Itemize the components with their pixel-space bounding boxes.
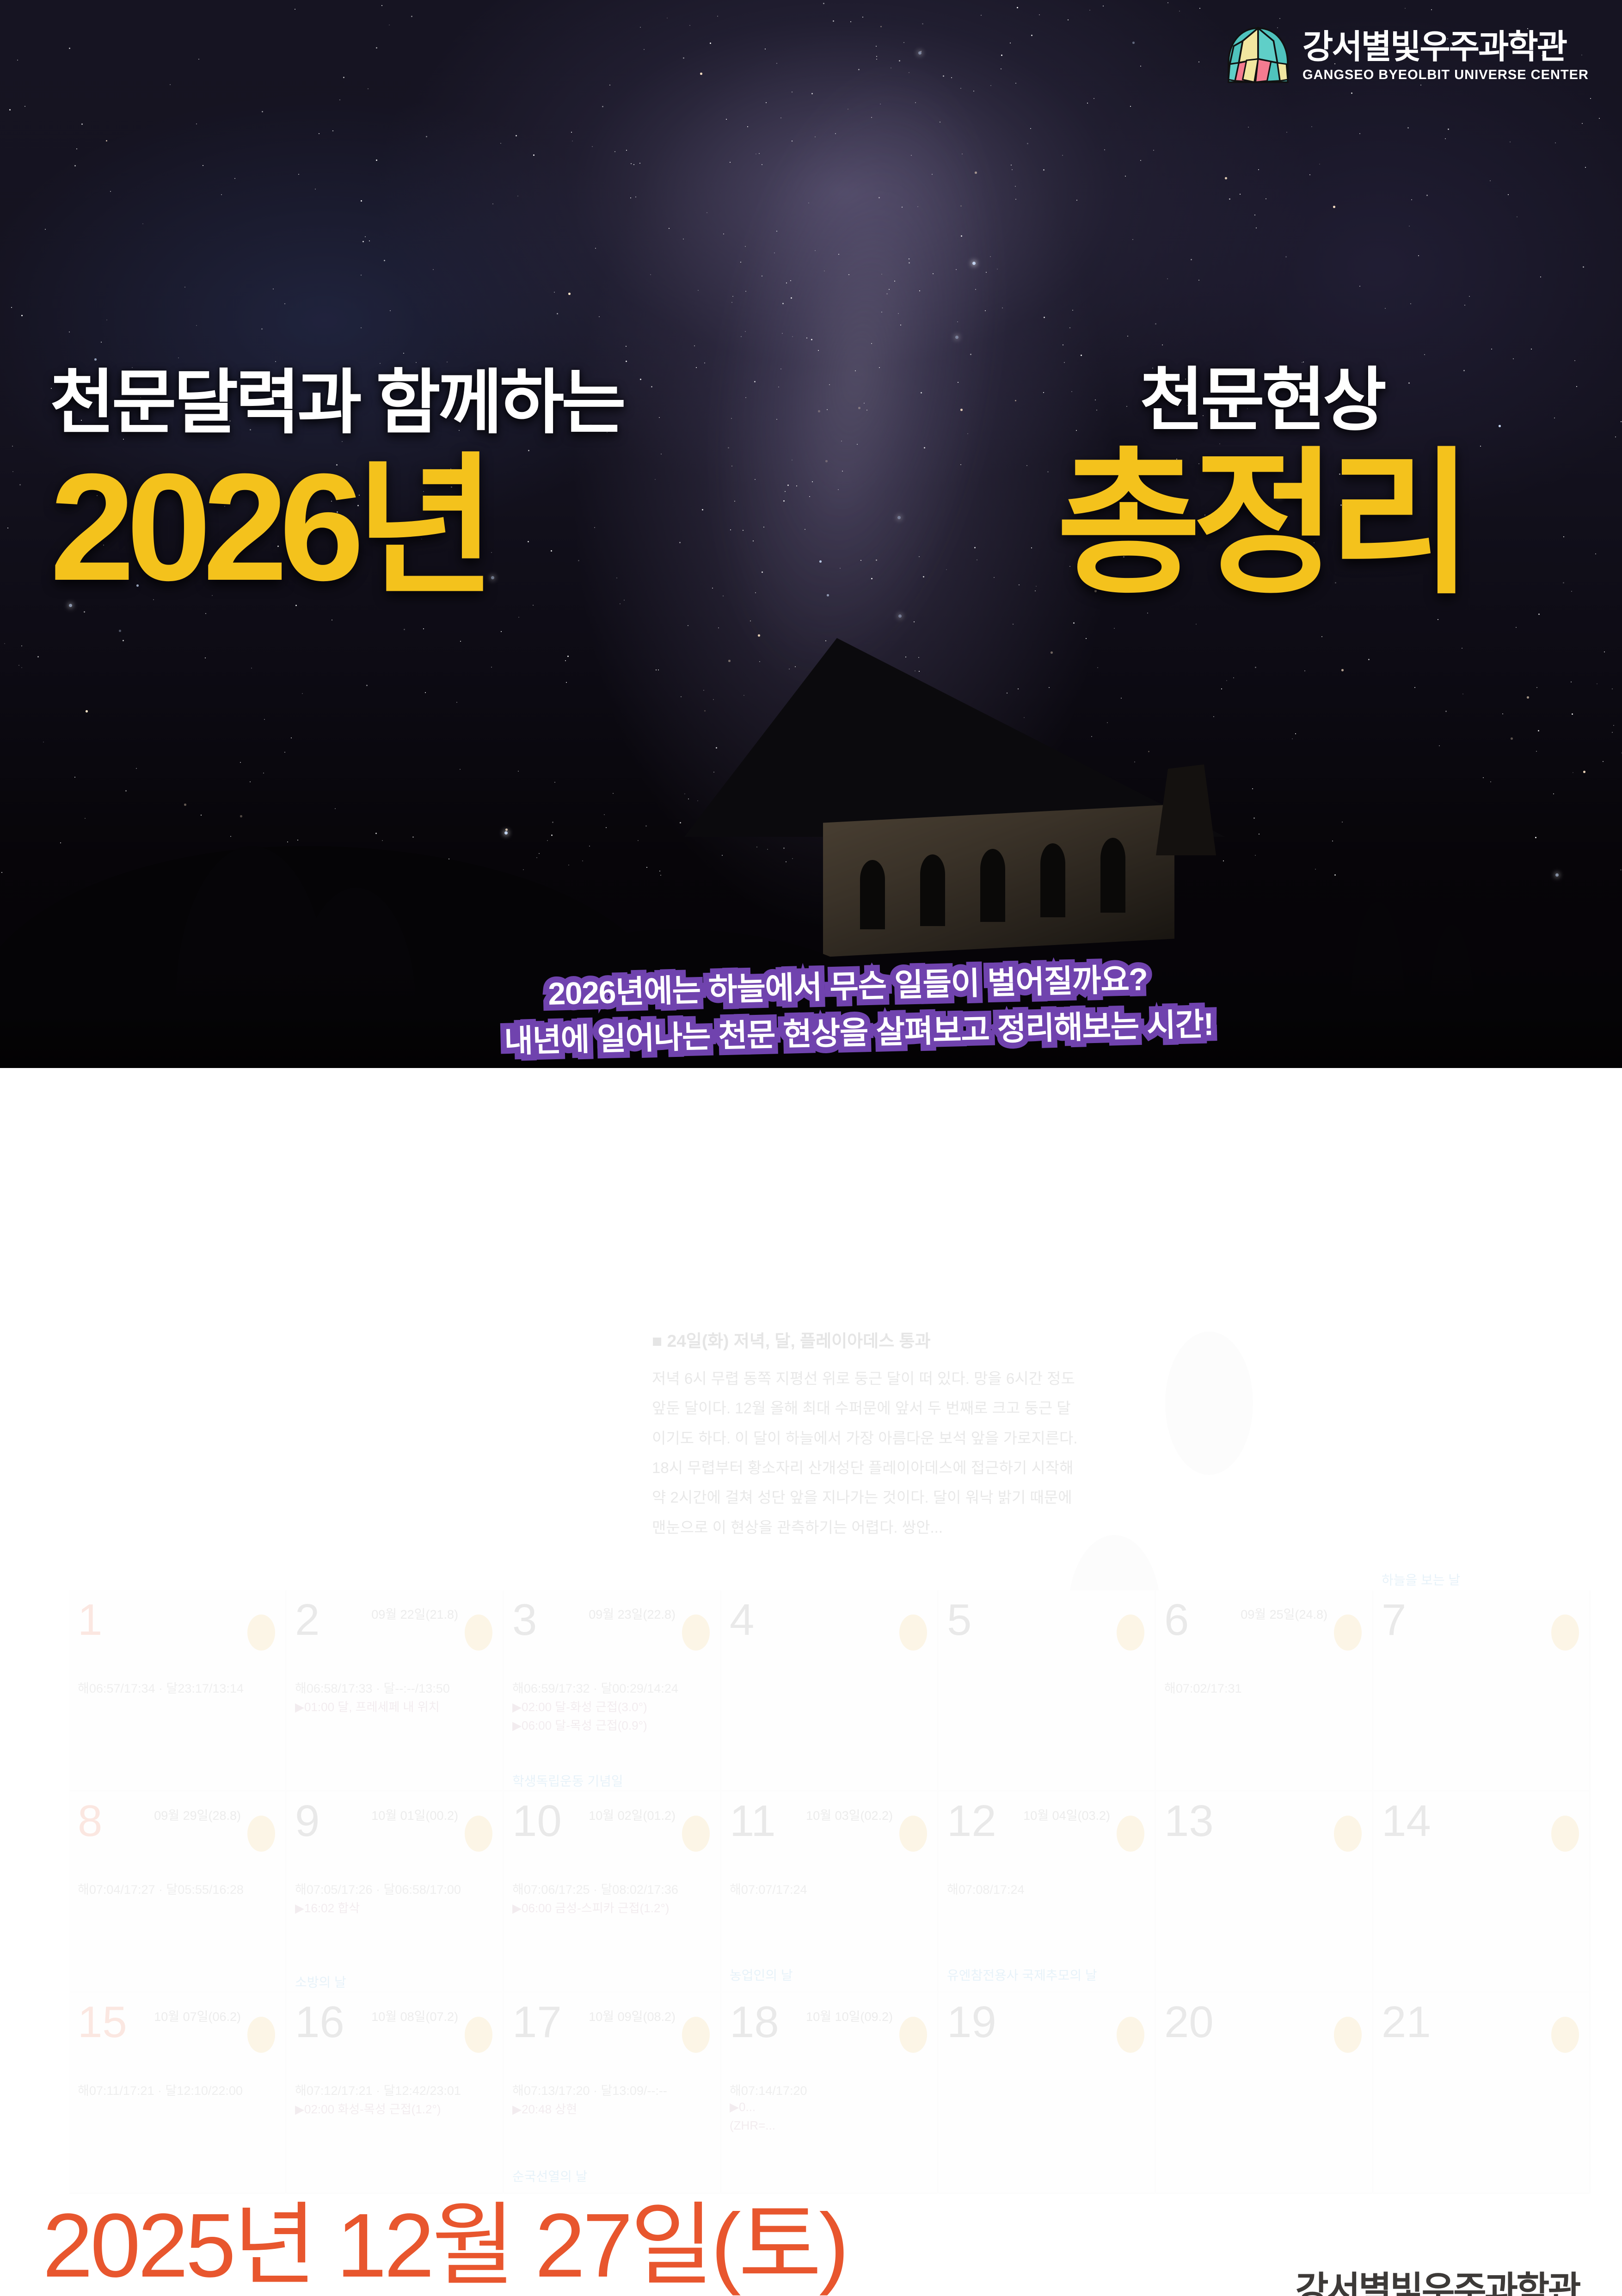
- watermark-lunar-date: 10월 01일(00.2): [371, 1805, 458, 1823]
- watermark-moon-phase-icon: [1551, 1816, 1579, 1852]
- watermark-calendar-cell: 소방의 날1610월 08일(07.2)해07:12/17:21 · 달12:4…: [287, 1993, 504, 2194]
- watermark-calendar-cell: 13: [1156, 1792, 1373, 1993]
- watermark-sun-moon-times: 해07:08/17:24: [947, 1879, 1024, 1897]
- event-time: 오후 14:00~15:50 (휴식시간 포함): [43, 2278, 829, 2296]
- watermark-moon-phase-icon: [247, 2017, 275, 2053]
- hero-night-sky-image: 천문달력과 함께하는 2026년 천문현상 총정리 2026년에는 하늘에서 무…: [0, 0, 1622, 1068]
- watermark-moon-phase-icon: [465, 1615, 492, 1651]
- watermark-calendar-cell: 209월 22일(21.8)해06:58/17:33 · 달--:--/13:5…: [287, 1590, 504, 1792]
- watermark-event: ▶06:00 금성-스피카 근접(1.2°): [512, 1899, 669, 1916]
- watermark-holiday: 농업인의 날: [730, 1965, 793, 1984]
- watermark-holiday-top: 하늘을 보는 날: [1382, 1570, 1460, 1589]
- hero-title-summary: 총정리: [1057, 451, 1464, 599]
- watermark-sun-moon-times: 해07:14/17:20: [730, 2081, 807, 2099]
- watermark-calendar-cell: 1110월 03일(02.2)해07:07/17:24농업인의 날: [721, 1792, 939, 1993]
- watermark-calendar-cell: 609월 25일(24.8)해07:02/17:31: [1156, 1590, 1373, 1792]
- watermark-sun-moon-times: 해06:57/17:34 · 달23:17/13:14: [78, 1678, 244, 1696]
- lecturer-block: 강서별빛우주과학관 강사 심재현 관장: [1204, 2269, 1579, 2296]
- watermark-holiday: 유엔참전용사 국제추모의 날: [947, 1965, 1097, 1984]
- watermark-calendar-cell: 학생독립운동 기념일1010월 02일(01.2)해07:06/17:25 · …: [504, 1792, 721, 1993]
- watermark-calendar-grid: 1해06:57/17:34 · 달23:17/13:14209월 22일(21.…: [69, 1590, 1609, 2194]
- watermark-moon-phase-icon: [1334, 1816, 1362, 1852]
- background-calendar-watermark: ■ 24일(화) 저녁, 달, 플레이아데스 통과 저녁 6시 무렵 동쪽 지평…: [0, 1068, 1622, 2296]
- watermark-moon-phase-icon: [1551, 2017, 1579, 2053]
- watermark-calendar-cell: 19: [939, 1993, 1156, 2194]
- watermark-calendar-cell: 309월 23일(22.8)해06:59/17:32 · 달00:29/14:2…: [504, 1590, 721, 1792]
- watermark-event: (ZHR=...: [730, 2118, 775, 2133]
- info-section: ■ 24일(화) 저녁, 달, 플레이아데스 통과 저녁 6시 무렵 동쪽 지평…: [0, 1068, 1622, 2296]
- watermark-lunar-date: 09월 22일(21.8): [371, 1604, 458, 1622]
- organization-logo: 강서별빛우주과학관 GANGSEO BYEOLBIT UNIVERSE CENT…: [1226, 27, 1589, 86]
- watermark-day-number: 4: [730, 1598, 929, 1642]
- event-date: 2025년 12월 27일(토): [43, 2172, 847, 2296]
- watermark-calendar-cell: 1510월 07일(06.2)해07:11/17:21 · 달12:10/22:…: [69, 1993, 287, 2194]
- watermark-article-body: 저녁 6시 무렵 동쪽 지평선 위로 둥근 달이 떠 있다. 망을 6시간 정도…: [652, 1364, 1082, 1542]
- dome-observatory-icon: [1226, 27, 1290, 86]
- watermark-moon-phase-icon: [682, 2017, 710, 2053]
- watermark-sun-moon-times: 해07:06/17:25 · 달08:02/17:36: [512, 1879, 678, 1897]
- watermark-lunar-date: 10월 07일(06.2): [154, 2007, 241, 2025]
- church-window: [860, 860, 885, 929]
- watermark-day-number: 21: [1382, 2000, 1581, 2044]
- watermark-moon-phase-icon: [465, 2017, 492, 2053]
- logo-english-name: GANGSEO BYEOLBIT UNIVERSE CENTER: [1303, 68, 1589, 83]
- watermark-calendar-cell: 1210월 04일(03.2)해07:08/17:24유엔참전용사 국제추모의 …: [939, 1792, 1156, 1993]
- watermark-event: ▶20:48 상현: [512, 2100, 577, 2117]
- watermark-moon-phase-icon: [1334, 1615, 1362, 1651]
- church-window: [1040, 843, 1065, 917]
- watermark-calendar-cell: 4: [721, 1590, 939, 1792]
- watermark-day-number: 19: [947, 2000, 1146, 2044]
- logo-korean-name: 강서별빛우주과학관: [1303, 31, 1589, 64]
- watermark-moon-phase-icon: [1334, 2017, 1362, 2053]
- watermark-event: ▶01:00 달, 프레세페 내 위치: [295, 1698, 440, 1715]
- watermark-day-number: 14: [1382, 1799, 1581, 1843]
- watermark-moon-phase-icon: [682, 1615, 710, 1651]
- watermark-holiday-top: 소방의 날: [295, 1972, 346, 1991]
- church-window: [920, 854, 945, 926]
- watermark-calendar-cell: 하늘을 보는 날7: [1373, 1590, 1591, 1792]
- watermark-event: ▶02:00 달-화성 근접(3.0°): [512, 1698, 647, 1715]
- church-window: [980, 849, 1005, 922]
- watermark-lunar-date: 10월 10일(09.2): [806, 2007, 893, 2025]
- watermark-event: ▶0...: [730, 2100, 756, 2114]
- watermark-sun-moon-times: 해07:12/17:21 · 달12:42/23:01: [295, 2081, 461, 2099]
- watermark-moon-graphic: [1165, 1332, 1253, 1475]
- watermark-sun-moon-times: 해07:07/17:24: [730, 1879, 807, 1897]
- watermark-sun-moon-times: 해07:13/17:20 · 달13:09/--:--: [512, 2081, 667, 2099]
- watermark-calendar-cell: 14: [1373, 1792, 1591, 1993]
- watermark-lunar-date: 10월 09일(08.2): [589, 2007, 676, 2025]
- watermark-lunar-date: 09월 29일(28.8): [154, 1805, 241, 1823]
- watermark-holiday-top: 학생독립운동 기념일: [512, 1771, 623, 1790]
- watermark-sun-moon-times: 해07:04/17:27 · 달05:55/16:28: [78, 1879, 244, 1897]
- watermark-sun-moon-times: 해07:05/17:26 · 달06:58/17:00: [295, 1879, 461, 1897]
- church-wall: [823, 804, 1174, 957]
- watermark-article-title: ■ 24일(화) 저녁, 달, 플레이아데스 통과: [652, 1327, 1082, 1352]
- watermark-day-number: 5: [947, 1598, 1146, 1642]
- hero-title-right-top: 천문현상: [1140, 365, 1384, 435]
- watermark-moon-phase-icon: [1117, 1615, 1144, 1651]
- watermark-lunar-date: 10월 04일(03.2): [1023, 1805, 1110, 1823]
- watermark-lunar-date: 10월 03일(02.2): [806, 1805, 893, 1823]
- lecturer-organization: 강서별빛우주과학관: [1204, 2269, 1579, 2296]
- watermark-day-number: 13: [1164, 1799, 1364, 1843]
- watermark-calendar-cell: 21: [1373, 1993, 1591, 2194]
- watermark-lunar-date: 10월 08일(07.2): [371, 2007, 458, 2025]
- watermark-day-number: 20: [1164, 2000, 1364, 2044]
- watermark-calendar-cell: 1해06:57/17:34 · 달23:17/13:14: [69, 1590, 287, 1792]
- watermark-moon-phase-icon: [1117, 1816, 1144, 1852]
- watermark-moon-phase-icon: [1117, 2017, 1144, 2053]
- watermark-article: ■ 24일(화) 저녁, 달, 플레이아데스 통과 저녁 6시 무렵 동쪽 지평…: [652, 1327, 1082, 1542]
- watermark-moon-phase-icon: [682, 1816, 710, 1852]
- watermark-moon-phase-icon: [899, 1816, 927, 1852]
- watermark-day-number: 1: [78, 1598, 277, 1642]
- watermark-moon-phase-icon: [899, 1615, 927, 1651]
- church-window: [1100, 838, 1125, 913]
- watermark-moon-phase-icon: [1551, 1615, 1579, 1651]
- watermark-event: ▶06:00 달-목성 근접(0.9°): [512, 1716, 647, 1733]
- watermark-calendar-cell: 910월 01일(00.2)해07:05/17:26 · 달06:58/17:0…: [287, 1792, 504, 1993]
- watermark-calendar-cell: 1810월 10일(09.2)해07:14/17:20▶0...(ZHR=...: [721, 1993, 939, 2194]
- watermark-moon-phase-icon: [247, 1615, 275, 1651]
- watermark-day-number: 7: [1382, 1598, 1581, 1642]
- watermark-event: ▶16:02 합삭: [295, 1899, 360, 1916]
- watermark-lunar-date: 09월 23일(22.8): [589, 1604, 676, 1622]
- watermark-event: ▶02:00 화성-목성 근접(1.2°): [295, 2100, 441, 2117]
- watermark-calendar-cell: 20: [1156, 1993, 1373, 2194]
- event-time-prefix: 오후: [43, 2278, 184, 2296]
- watermark-calendar-cell: 5: [939, 1590, 1156, 1792]
- hero-title-left-top: 천문달력과 함께하는: [50, 368, 623, 438]
- watermark-calendar-cell: 809월 29일(28.8)해07:04/17:27 · 달05:55/16:2…: [69, 1792, 287, 1993]
- watermark-lunar-date: 09월 25일(24.8): [1241, 1604, 1327, 1622]
- watermark-moon-phase-icon: [899, 2017, 927, 2053]
- watermark-sun-moon-times: 해07:02/17:31: [1164, 1678, 1241, 1696]
- watermark-sun-moon-times: 해06:59/17:32 · 달00:29/14:24: [512, 1678, 678, 1696]
- poster-root: 천문달력과 함께하는 2026년 천문현상 총정리 2026년에는 하늘에서 무…: [0, 0, 1622, 2296]
- hero-title-year: 2026년: [50, 455, 488, 599]
- church-building: [684, 638, 1230, 957]
- watermark-sun-moon-times: 해07:11/17:21 · 달12:10/22:00: [78, 2081, 243, 2099]
- watermark-calendar-cell: 1710월 09일(08.2)해07:13/17:20 · 달13:09/--:…: [504, 1993, 721, 2194]
- watermark-moon-phase-icon: [465, 1816, 492, 1852]
- watermark-sun-moon-times: 해06:58/17:33 · 달--:--/13:50: [295, 1678, 450, 1696]
- watermark-lunar-date: 10월 02일(01.2): [589, 1805, 676, 1823]
- watermark-moon-phase-icon: [247, 1816, 275, 1852]
